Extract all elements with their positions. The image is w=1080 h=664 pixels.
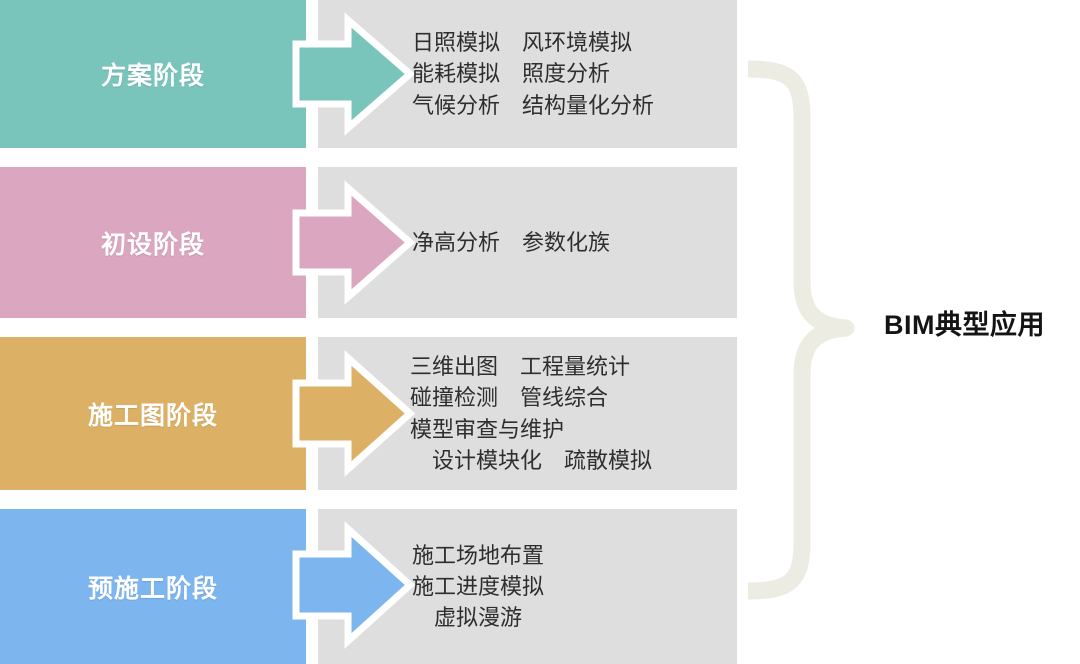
application-line: 虚拟漫游 [412,602,732,633]
stage-label: 施工图阶段 [88,396,218,432]
arrow-icon [296,509,421,664]
bim-application-diagram: 方案阶段 日照模拟 风环境模拟 能耗模拟 照度分析 气候分析 结构量化分析 初设… [0,0,1080,664]
application-line: 设计模块化 疏散模拟 [410,445,730,476]
stage-row-scheme: 方案阶段 日照模拟 风环境模拟 能耗模拟 照度分析 气候分析 结构量化分析 [0,0,760,148]
applications-text: 日照模拟 风环境模拟 能耗模拟 照度分析 气候分析 结构量化分析 [412,0,732,148]
stage-label: 初设阶段 [101,225,205,261]
arrow-icon [296,337,421,490]
stage-block-construction-drawing[interactable]: 施工图阶段 [0,337,306,490]
application-line: 日照模拟 风环境模拟 [412,27,732,58]
stage-row-construction-drawing: 施工图阶段 三维出图 工程量统计 碰撞检测 管线综合 模型审查与维护 设计模块化… [0,337,760,490]
application-line: 气候分析 结构量化分析 [412,90,732,121]
stage-block-scheme[interactable]: 方案阶段 [0,0,306,148]
applications-text: 施工场地布置 施工进度模拟 虚拟漫游 [412,509,732,664]
arrow-icon [296,167,421,318]
application-line: 能耗模拟 照度分析 [412,58,732,89]
brace-icon [742,60,872,600]
application-line: 碰撞检测 管线综合 [410,382,730,413]
stage-row-preliminary-design: 初设阶段 净高分析 参数化族 [0,167,760,318]
application-line: 三维出图 工程量统计 [410,351,730,382]
application-line: 净高分析 参数化族 [412,227,732,258]
application-line: 模型审查与维护 [410,414,730,445]
application-line: 施工进度模拟 [412,571,732,602]
stage-row-pre-construction: 预施工阶段 施工场地布置 施工进度模拟 虚拟漫游 [0,509,760,664]
stage-block-preliminary-design[interactable]: 初设阶段 [0,167,306,318]
stage-label: 方案阶段 [101,56,205,92]
summary-label: BIM典型应用 [884,303,1045,342]
applications-text: 净高分析 参数化族 [412,167,732,318]
stage-label: 预施工阶段 [88,569,218,605]
arrow-icon [296,0,421,148]
application-line: 施工场地布置 [412,540,732,571]
stage-block-pre-construction[interactable]: 预施工阶段 [0,509,306,664]
applications-text: 三维出图 工程量统计 碰撞检测 管线综合 模型审查与维护 设计模块化 疏散模拟 [410,337,730,490]
